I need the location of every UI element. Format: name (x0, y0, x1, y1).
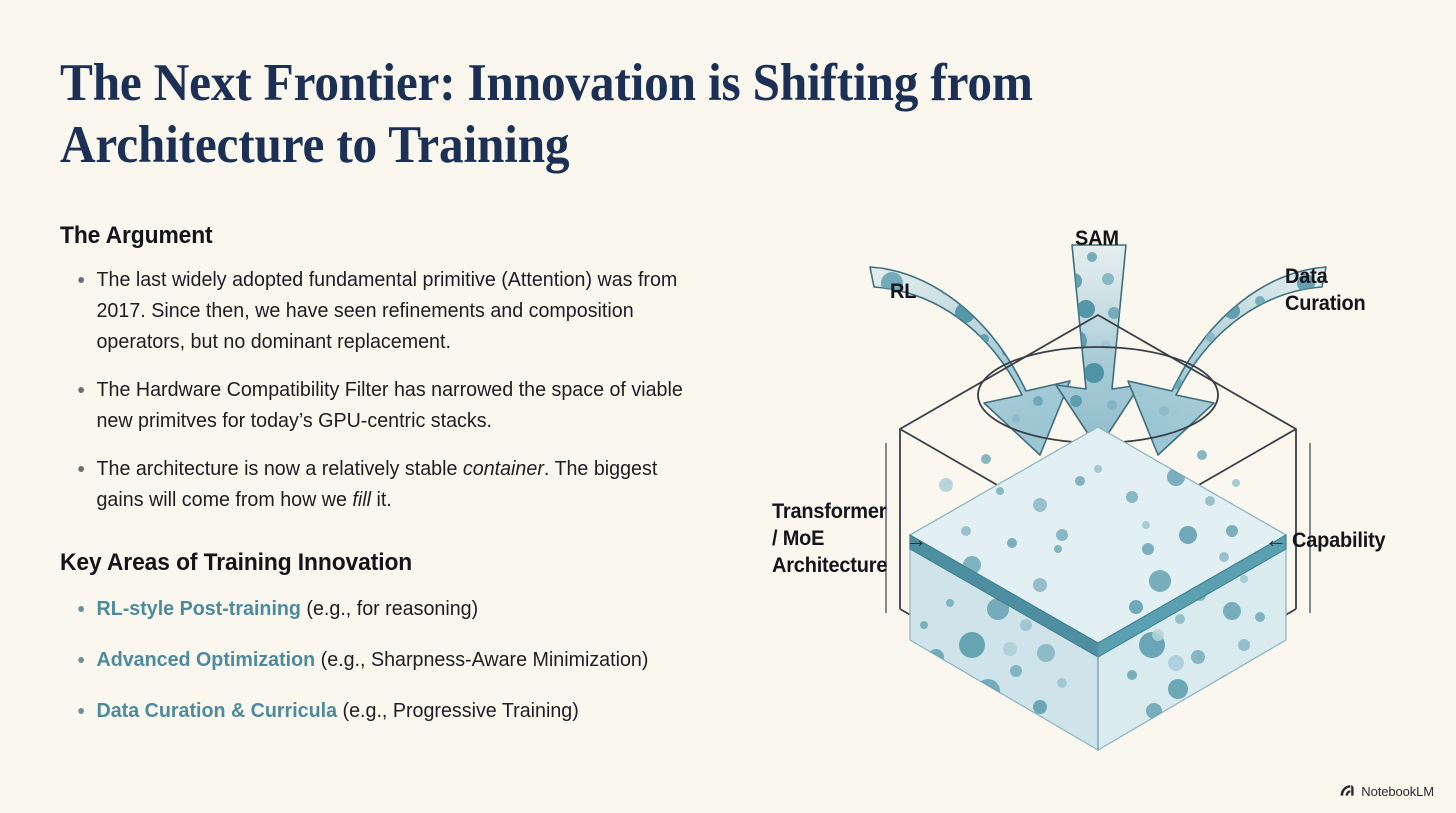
list-item-text: (e.g., Sharpness-Aware Minimization) (315, 648, 648, 671)
list-item: Advanced Optimization (e.g., Sharpness-A… (60, 644, 703, 675)
diagram-label-data-curation: Data Curation (1285, 263, 1365, 317)
bullet-dot-icon (78, 606, 84, 612)
content-column: The Argument The last widely adopted fun… (60, 222, 730, 746)
bullet-dot-icon (78, 657, 84, 663)
list-item-text: The architecture is now a relatively sta… (96, 457, 462, 480)
bullet-dot-icon (78, 708, 84, 714)
page-title: The Next Frontier: Innovation is Shiftin… (60, 52, 1176, 176)
section-heading: Key Areas of Training Innovation (60, 549, 697, 577)
bullet-list-argument: The last widely adopted fundamental prim… (60, 264, 730, 515)
list-item: The Hardware Compatibility Filter has na… (60, 374, 703, 436)
list-item-text: (e.g., Progressive Training) (337, 699, 579, 722)
arrow-right-icon: → (905, 527, 927, 553)
bullet-dot-icon (78, 277, 84, 283)
list-item: The last widely adopted fundamental prim… (60, 264, 703, 357)
list-item-emphasis: container (463, 457, 544, 480)
arrow-left-icon: ← (1265, 527, 1287, 553)
list-item: Data Curation & Curricula (e.g., Progres… (60, 695, 703, 726)
section-heading: The Argument (60, 222, 697, 250)
watermark-label: NotebookLM (1361, 784, 1434, 799)
list-item-text: The Hardware Compatibility Filter has na… (96, 378, 682, 432)
list-item-lead: Data Curation & Curricula (96, 699, 337, 722)
bullet-dot-icon (78, 387, 84, 393)
bullet-dot-icon (78, 466, 84, 472)
list-item-lead: Advanced Optimization (96, 648, 315, 671)
diagram-label-architecture: Transformer / MoE Architecture (772, 498, 887, 579)
list-item-emphasis: fill (352, 488, 371, 511)
list-item-text: it. (371, 488, 392, 511)
notebooklm-watermark: NotebookLM (1339, 783, 1434, 799)
diagram-label-rl: RL (890, 278, 916, 305)
list-item-text: The last widely adopted fundamental prim… (96, 268, 677, 353)
list-item: RL-style Post-training (e.g., for reason… (60, 593, 703, 624)
diagram-label-sam: SAM (1075, 225, 1119, 252)
section-key-areas: Key Areas of Training Innovation RL-styl… (60, 549, 730, 726)
diagram-label-capability: Capability (1292, 527, 1385, 554)
bullet-list-key-areas: RL-style Post-training (e.g., for reason… (60, 593, 730, 726)
list-item-lead: RL-style Post-training (96, 597, 300, 620)
list-item-text: (e.g., for reasoning) (301, 597, 478, 620)
section-argument: The Argument The last widely adopted fun… (60, 222, 730, 515)
slide-root: The Next Frontier: Innovation is Shiftin… (0, 0, 1456, 813)
notebooklm-spiral-icon (1339, 783, 1355, 799)
list-item: The architecture is now a relatively sta… (60, 453, 703, 515)
